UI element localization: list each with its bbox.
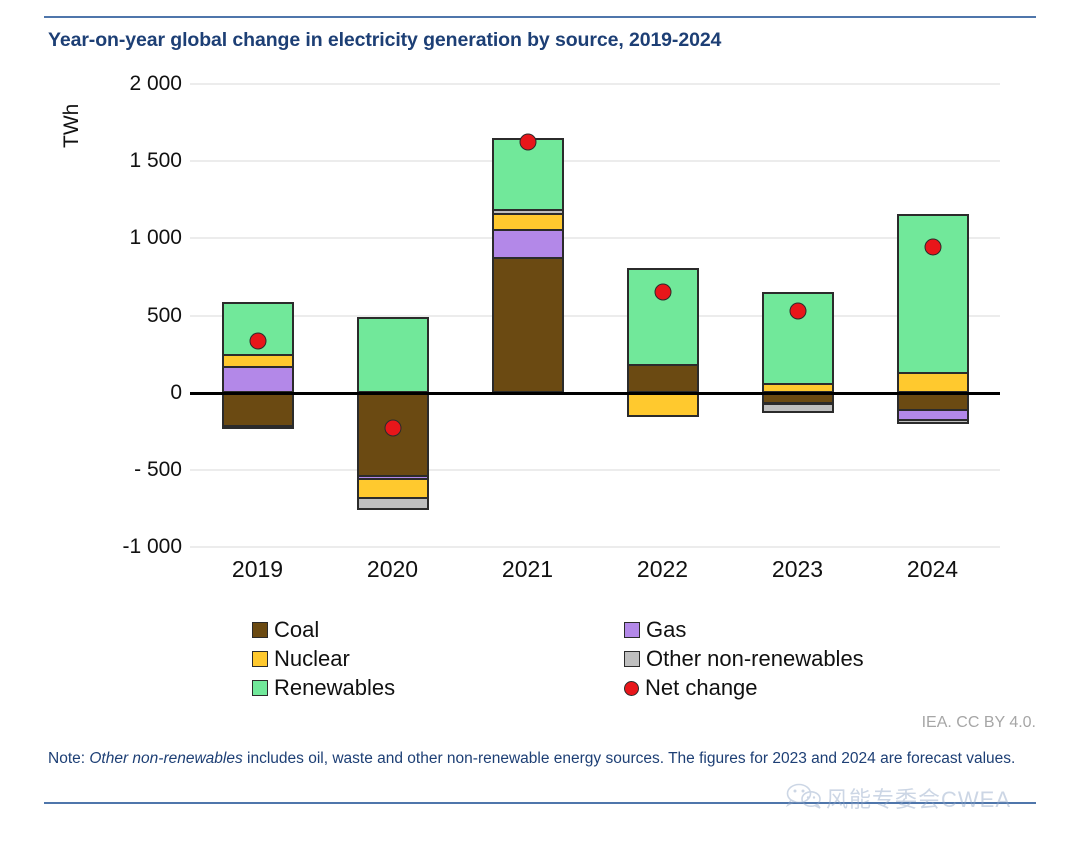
y-axis-tick: 1 000 (62, 226, 182, 250)
bar-segment[interactable] (627, 393, 699, 418)
legend-item[interactable]: Gas (624, 617, 686, 643)
bar-segment[interactable] (897, 393, 969, 411)
bar-segment[interactable] (222, 367, 294, 392)
chart-legend: CoalGasNuclearOther non-renewablesRenewa… (252, 617, 912, 703)
legend-item[interactable]: Renewables (252, 675, 395, 701)
legend-swatch-icon (624, 651, 640, 667)
legend-item[interactable]: Net change (624, 675, 758, 701)
bar-group[interactable] (762, 84, 834, 547)
bar-segment[interactable] (222, 355, 294, 367)
x-axis-tick: 2024 (907, 556, 958, 583)
x-axis-tick: 2021 (502, 556, 553, 583)
legend-item[interactable]: Nuclear (252, 646, 350, 672)
legend-label: Coal (274, 617, 319, 643)
legend-label: Nuclear (274, 646, 350, 672)
plot-area (190, 84, 1000, 547)
bar-group[interactable] (222, 84, 294, 547)
bar-group[interactable] (627, 84, 699, 547)
y-axis-tick: -1 000 (62, 535, 182, 559)
gridline (190, 546, 1000, 548)
bar-segment[interactable] (357, 498, 429, 510)
legend-swatch-icon (252, 622, 268, 638)
legend-item[interactable]: Coal (252, 617, 319, 643)
y-axis-tick: 500 (62, 304, 182, 328)
bar-segment[interactable] (897, 420, 969, 425)
x-axis-tick: 2019 (232, 556, 283, 583)
page-title: Year-on-year global change in electricit… (48, 29, 721, 52)
legend-label: Gas (646, 617, 686, 643)
bar-group[interactable] (897, 84, 969, 547)
bar-segment[interactable] (222, 426, 294, 429)
gridline (190, 83, 1000, 85)
note-emphasis: Other non-renewables (89, 750, 242, 767)
bar-segment[interactable] (492, 230, 564, 259)
legend-label: Other non-renewables (646, 646, 864, 672)
y-axis-tick: 2 000 (62, 72, 182, 96)
x-axis-tick: 2023 (772, 556, 823, 583)
gridline (190, 237, 1000, 239)
y-axis-tick: - 500 (62, 458, 182, 482)
legend-swatch-icon (624, 622, 640, 638)
legend-item[interactable]: Other non-renewables (624, 646, 864, 672)
watermark: 风能专委会CWEA (786, 782, 1011, 814)
bar-segment[interactable] (627, 365, 699, 393)
legend-label: Renewables (274, 675, 395, 701)
bar-segment[interactable] (222, 393, 294, 426)
net-change-marker[interactable] (654, 284, 671, 301)
x-axis-tick: 2022 (637, 556, 688, 583)
bar-segment[interactable] (492, 214, 564, 230)
legend-label: Net change (645, 675, 758, 701)
wechat-icon (786, 783, 822, 814)
net-change-marker[interactable] (249, 332, 266, 349)
bar-segment[interactable] (357, 317, 429, 393)
bar-segment[interactable] (897, 373, 969, 393)
top-divider (44, 16, 1036, 18)
net-change-marker[interactable] (384, 420, 401, 437)
gridline (190, 469, 1000, 471)
chart-page: Year-on-year global change in electricit… (0, 0, 1080, 848)
y-axis-tick: 1 500 (62, 149, 182, 173)
legend-dot-icon (624, 681, 639, 696)
license-credit: IEA. CC BY 4.0. (922, 714, 1036, 732)
bar-segment[interactable] (357, 479, 429, 498)
gridline (190, 160, 1000, 162)
chart-note: Note: Other non-renewables includes oil,… (48, 748, 1028, 770)
bar-segment[interactable] (492, 210, 564, 213)
bar-segment[interactable] (897, 410, 969, 419)
bar-group[interactable] (357, 84, 429, 547)
y-axis-tick: 0 (62, 381, 182, 405)
net-change-marker[interactable] (519, 133, 536, 150)
watermark-text: 风能专委会CWEA (826, 782, 1011, 814)
legend-swatch-icon (252, 680, 268, 696)
bar-segment[interactable] (492, 258, 564, 392)
bar-segment[interactable] (762, 404, 834, 413)
x-axis-tick: 2020 (367, 556, 418, 583)
gridline (190, 315, 1000, 317)
net-change-marker[interactable] (789, 302, 806, 319)
bar-group[interactable] (492, 84, 564, 547)
legend-swatch-icon (252, 651, 268, 667)
y-axis-tick-labels: 2 0001 5001 0005000- 500-1 000 (48, 84, 182, 547)
zero-axis-line (190, 392, 1000, 395)
net-change-marker[interactable] (924, 238, 941, 255)
